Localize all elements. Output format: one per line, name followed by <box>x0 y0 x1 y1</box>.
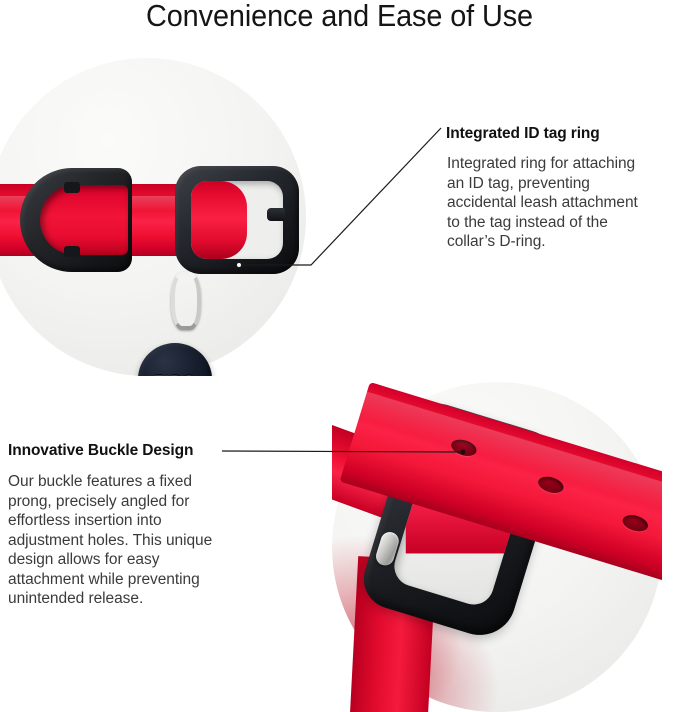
strap-behind-ring <box>191 181 247 259</box>
callout-body-line: prong, precisely angled for <box>8 492 212 512</box>
d-ring-hardware <box>20 168 132 272</box>
callout-body-line: adjustment holes. This unique <box>8 531 212 551</box>
collar-id-tag-ring-photo: FIDO <box>0 58 306 376</box>
adjustment-hole <box>449 437 478 459</box>
buckle-closeup-photo <box>332 382 662 712</box>
id-tag-label: FIDO <box>154 372 196 377</box>
d-ring-nub-top <box>64 182 80 193</box>
callout-heading-id-tag-ring: Integrated ID tag ring <box>446 124 600 144</box>
id-tag-ring-prong <box>267 208 285 221</box>
callout-body-line: Integrated ring for attaching <box>447 154 638 174</box>
adjustment-hole <box>621 512 650 534</box>
callout-body-line: collar’s D-ring. <box>447 232 638 252</box>
callout-body-id-tag-ring: Integrated ring for attachingan ID tag, … <box>447 154 638 252</box>
split-ring <box>171 272 201 330</box>
callout-heading-buckle-design: Innovative Buckle Design <box>8 441 193 461</box>
callout-body-line: effortless insertion into <box>8 511 212 531</box>
callout-body-line: an ID tag, preventing <box>447 174 638 194</box>
page-title: Convenience and Ease of Use <box>24 0 655 36</box>
callout-body-line: attachment while preventing <box>8 570 212 590</box>
d-ring-opening <box>40 185 128 255</box>
d-ring-nub-bottom <box>64 246 80 257</box>
callout-body-line: design allows for easy <box>8 550 212 570</box>
callout-body-buckle-design: Our buckle features a fixedprong, precis… <box>8 472 212 609</box>
callout-body-line: unintended release. <box>8 589 212 609</box>
adjustment-hole <box>536 474 565 496</box>
callout-body-line: Our buckle features a fixed <box>8 472 212 492</box>
callout-body-line: accidental leash attachment <box>447 193 638 213</box>
callout-body-line: to the tag instead of the <box>447 213 638 233</box>
integrated-id-tag-ring-hardware <box>175 166 299 274</box>
